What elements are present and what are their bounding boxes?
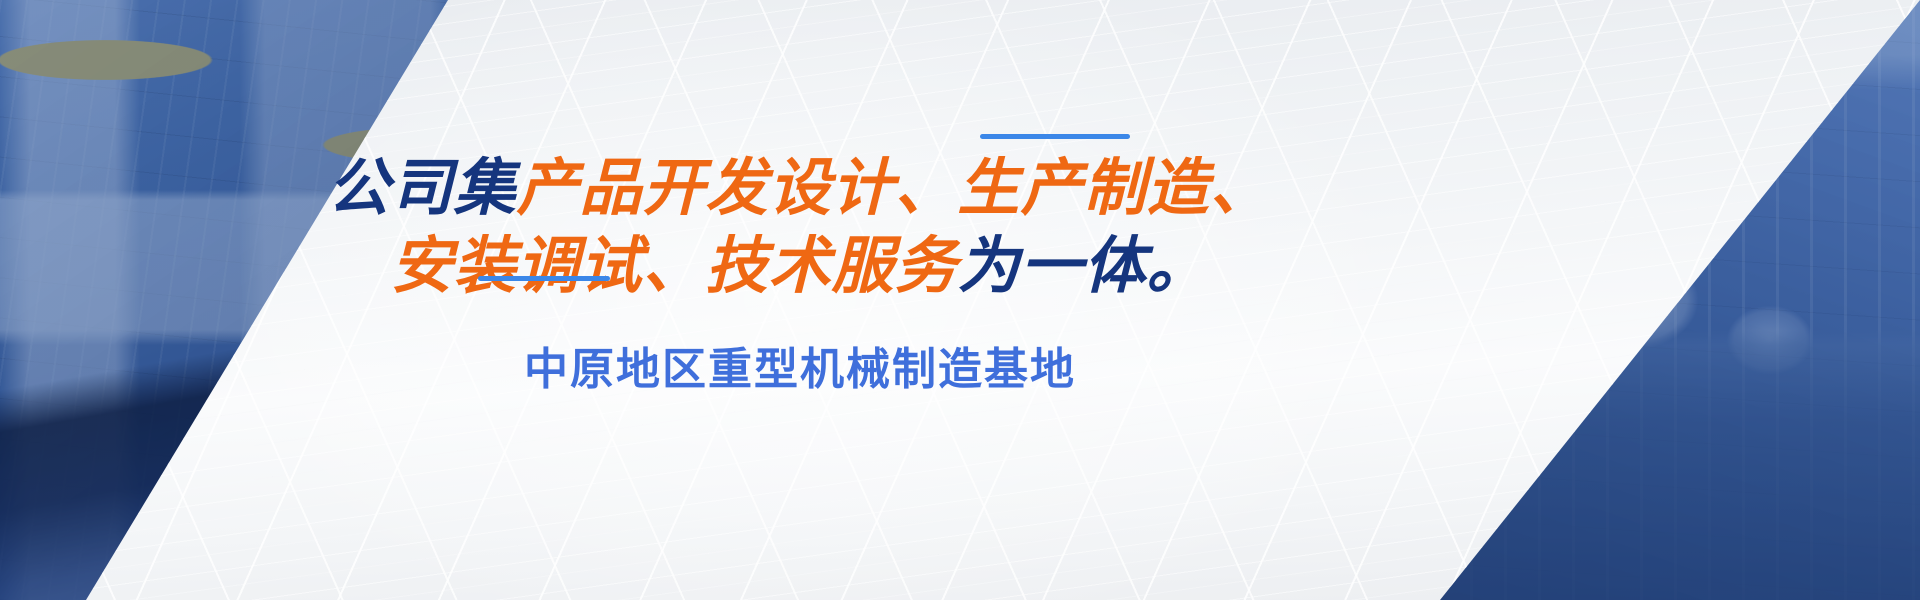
headline-line-1: 公司集产品开发设计、生产制造、 [0,150,1600,228]
headline-line-1-orange-text: 产品开发设计、生产制造、 [517,154,1273,223]
headline-line-2-orange-text: 安装调试、技术服务 [390,232,957,301]
headline-line-2: 安装调试、技术服务为一体。 [0,228,1600,306]
accent-line-top [980,134,1130,139]
headline-line-1-navy-text: 公司集 [327,154,516,223]
headline-line-2-navy-text: 为一体。 [958,232,1210,301]
banner-content: 公司集产品开发设计、生产制造、 安装调试、技术服务为一体。 中原地区重型机械制造… [0,0,1920,600]
hero-banner: 公司集产品开发设计、生产制造、 安装调试、技术服务为一体。 中原地区重型机械制造… [0,0,1920,600]
accent-line-bottom [478,276,610,281]
headline: 公司集产品开发设计、生产制造、 安装调试、技术服务为一体。 [0,150,1600,306]
subtitle: 中原地区重型机械制造基地 [0,340,1600,400]
